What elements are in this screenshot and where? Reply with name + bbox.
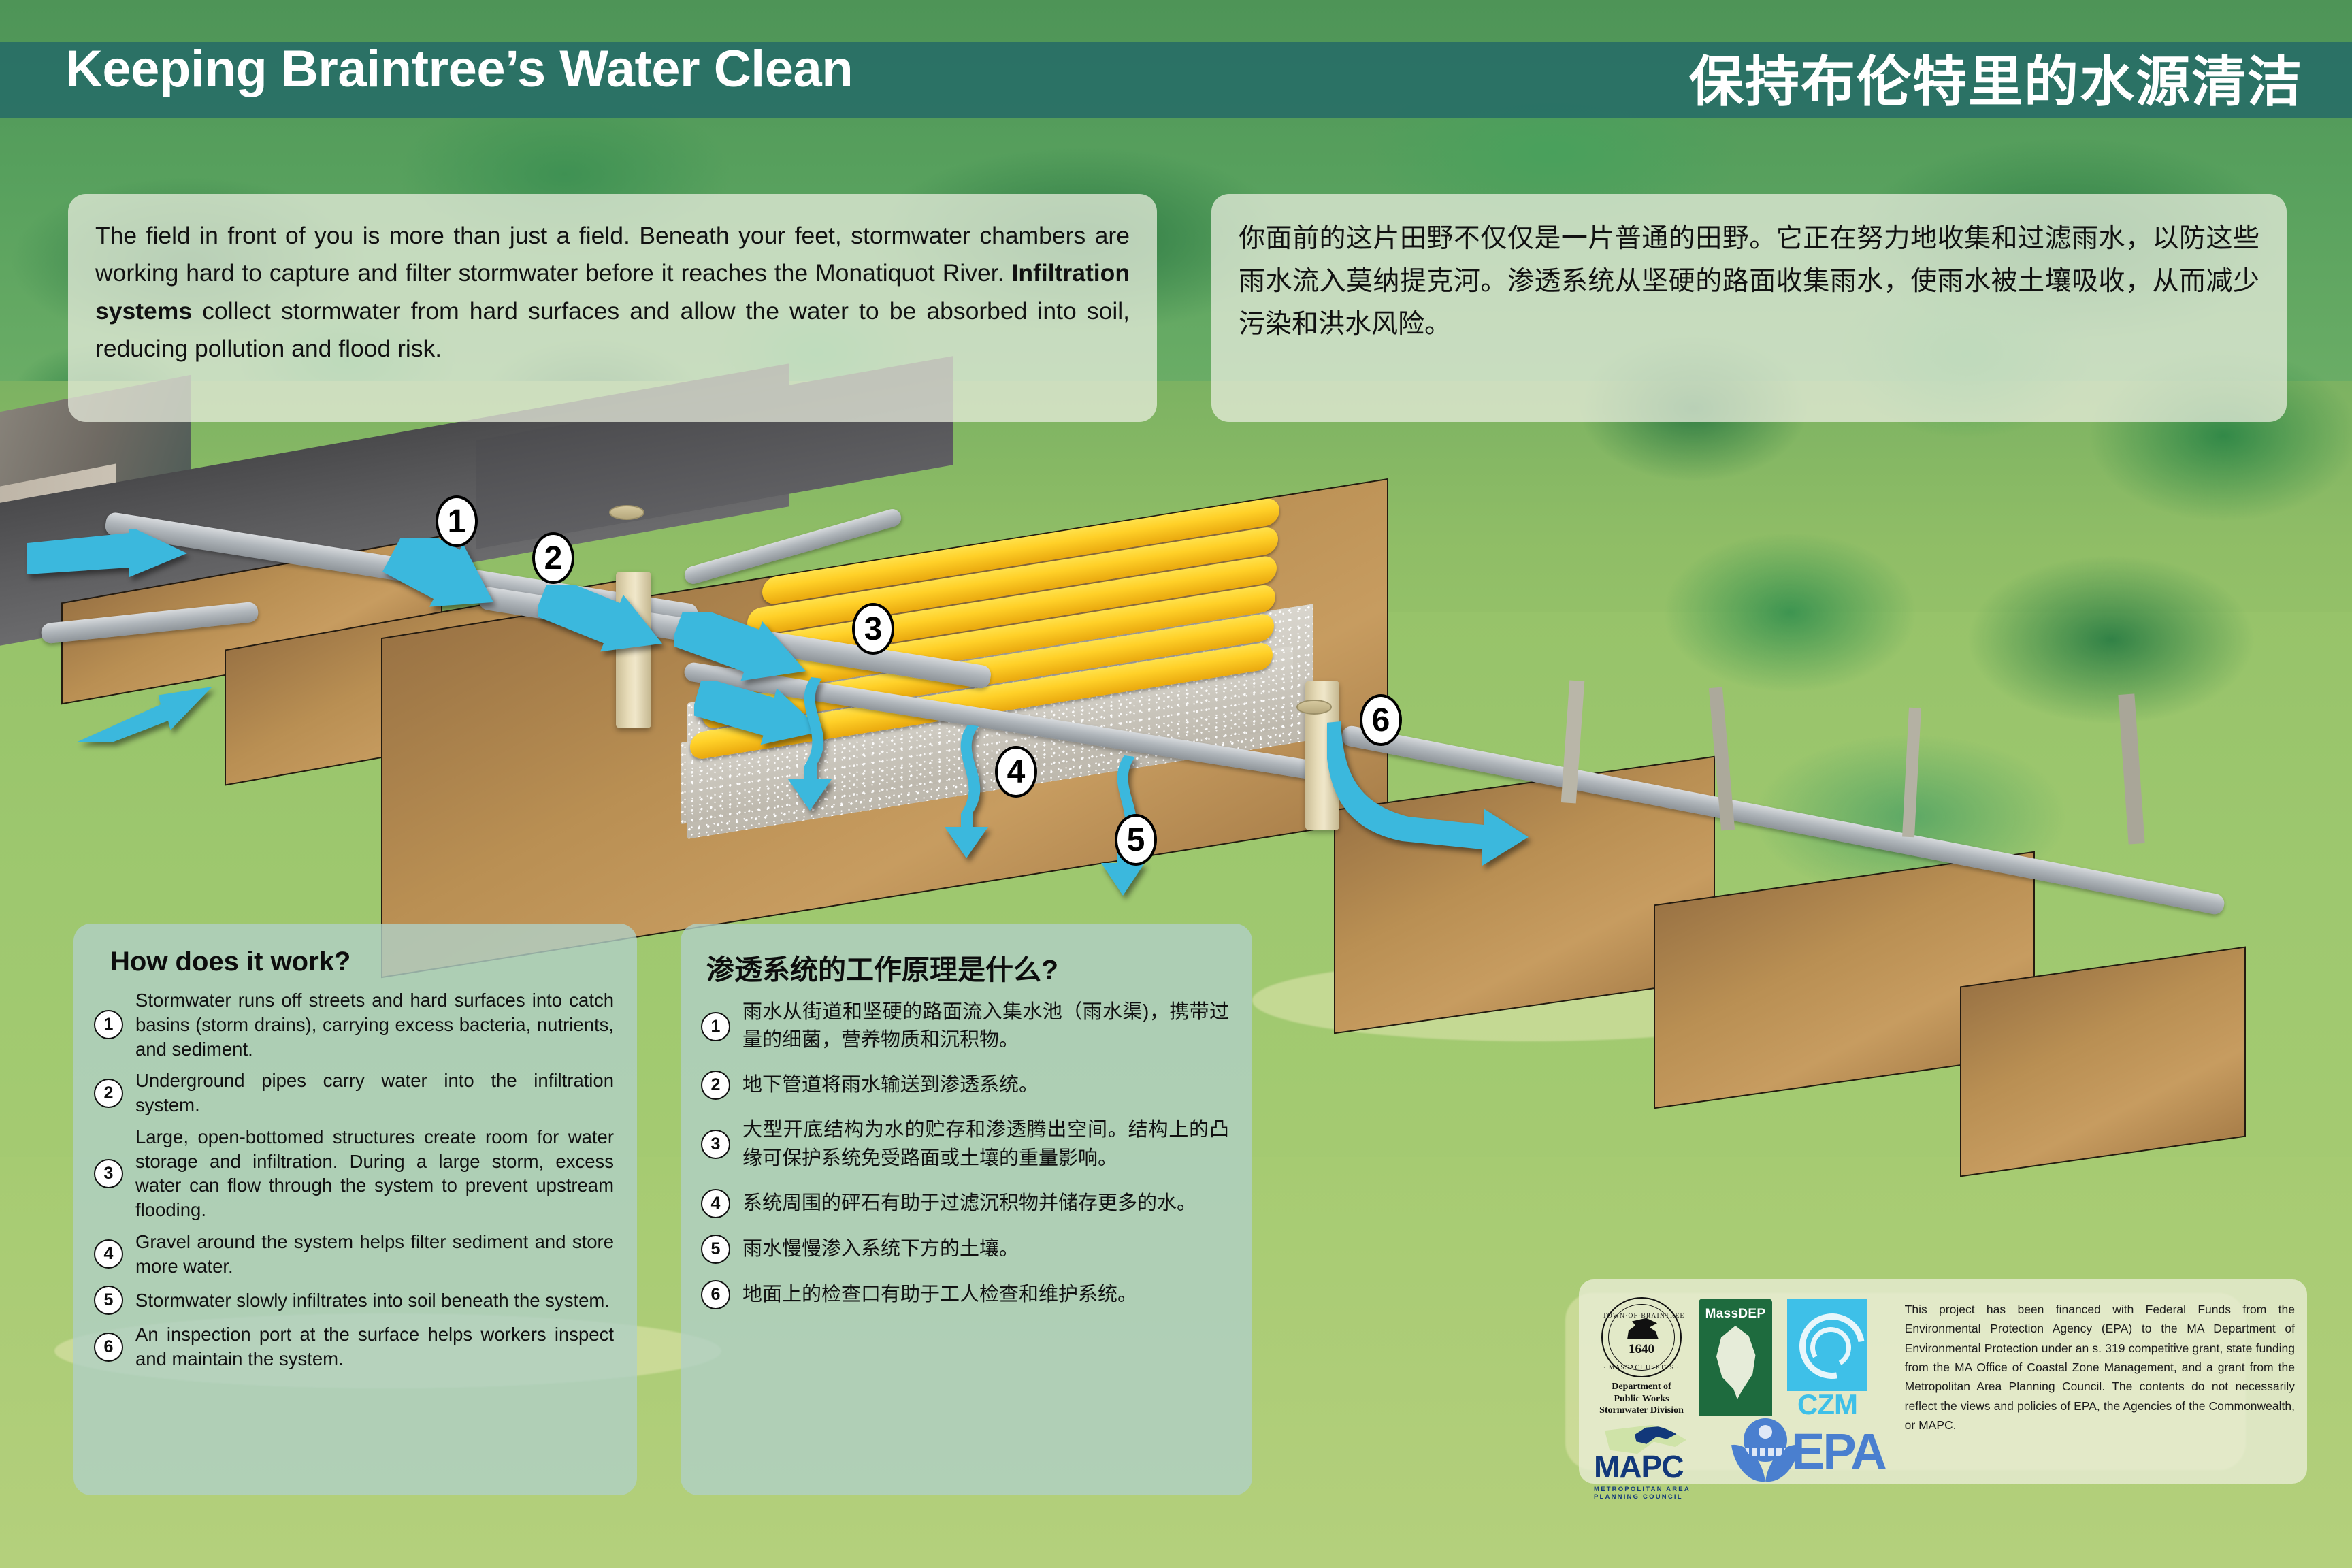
mapc-logo: MAPC METROPOLITAN AREA PLANNING COUNCIL [1594,1424,1730,1501]
step-number-badge: 5 [94,1286,123,1315]
seal-ring: · TOWN·OF·BRAINTREE · 1640 · MASSACHUSET… [1601,1297,1682,1377]
step-text: 系统周围的砰石有助于过滤沉积物并储存更多的水。 [742,1190,1196,1218]
steps-list-chinese: 1 雨水从街道和坚硬的路面流入集水池（雨水渠)，携带过量的细菌，营养物质和沉积物… [701,998,1229,1309]
list-item: 5 雨水慢慢渗入系统下方的土壤。 [701,1235,1229,1264]
step-number-badge: 1 [701,1012,730,1041]
intro-text-chinese: 你面前的这片田野不仅仅是一片普通的田野。它正在努力地收集和过滤雨水，以防这些雨水… [1239,217,2259,346]
diagram-callout-5[interactable]: 5 [1115,814,1157,866]
list-item: 2 地下管道将雨水输送到渗透系统。 [701,1071,1229,1100]
funding-logos-panel: · TOWN·OF·BRAINTREE · 1640 · MASSACHUSET… [1579,1279,2307,1484]
diagram-callout-4[interactable]: 4 [995,746,1037,798]
czm-label: CZM [1786,1388,1869,1421]
list-item: 6 An inspection port at the surface help… [94,1322,614,1371]
diagram-callout-2[interactable]: 2 [532,532,574,584]
czm-logo: CZM [1786,1298,1869,1421]
intro-panel-english: The field in front of you is more than j… [68,194,1157,422]
massdep-label: MassDEP [1705,1307,1766,1322]
flow-arrow-infiltrate-1 [783,677,837,813]
seal-caption-line2: Stormwater Division [1598,1405,1685,1417]
step-number-badge: 4 [701,1189,730,1218]
seal-year: 1640 [1603,1342,1680,1357]
braintree-town-seal: · TOWN·OF·BRAINTREE · 1640 · MASSACHUSET… [1598,1297,1685,1417]
mapc-label: MAPC [1594,1448,1730,1485]
seal-ring-top-text: · TOWN·OF·BRAINTREE · [1603,1306,1680,1326]
step-number-badge: 5 [701,1235,730,1264]
flow-arrow-infiltrate-2 [939,725,994,861]
funding-disclaimer-text: This project has been financed with Fede… [1905,1289,2295,1435]
epa-emblem-icon [1734,1418,1797,1484]
step-text: Stormwater runs off streets and hard sur… [135,988,614,1061]
page-title-english: Keeping Braintree’s Water Clean [65,39,853,99]
flow-arrow-runoff-1 [27,529,191,598]
step-text: Underground pipes carry water into the i… [135,1068,614,1117]
step-number-badge: 1 [94,1010,123,1039]
wave-icon [1787,1298,1867,1391]
list-item: 1 雨水从街道和坚硬的路面流入集水池（雨水渠)，携带过量的细菌，营养物质和沉积物… [701,998,1229,1054]
how-it-works-panel-chinese: 渗透系统的工作原理是什么? 1 雨水从街道和坚硬的路面流入集水池（雨水渠)，携带… [681,924,1252,1495]
step-number-badge: 4 [94,1239,123,1269]
soil-trench-right-3 [1960,946,2246,1177]
how-it-works-heading-chinese: 渗透系统的工作原理是什么? [706,947,1229,987]
massdep-logo: MassDEP [1699,1298,1772,1416]
step-number-badge: 3 [94,1159,123,1188]
intro-text-en-before: The field in front of you is more than j… [95,222,1130,287]
step-text: 地下管道将雨水输送到渗透系统。 [742,1071,1039,1099]
diagram-callout-3[interactable]: 3 [852,603,894,655]
flow-arrow-runoff-2 [65,674,221,742]
step-number-badge: 2 [94,1079,123,1108]
step-text: 地面上的检查口有助于工人检查和维护系统。 [742,1281,1137,1309]
leaf-icon [1712,1326,1759,1399]
step-text: Stormwater slowly infiltrates into soil … [135,1288,610,1313]
list-item: 1 Stormwater runs off streets and hard s… [94,988,614,1061]
intro-text-en-after: collect stormwater from hard surfaces an… [95,297,1130,362]
diagram-callout-6[interactable]: 6 [1360,694,1402,746]
list-item: 3 大型开底结构为水的贮存和渗透腾出空间。结构上的凸缘可保护系统免受路面或土壤的… [701,1116,1229,1172]
epa-label: EPA [1791,1422,1885,1480]
how-it-works-heading-english: How does it work? [110,947,614,977]
logo-grid: · TOWN·OF·BRAINTREE · 1640 · MASSACHUSET… [1591,1289,1905,1474]
step-number-badge: 6 [94,1333,123,1362]
step-number-badge: 2 [701,1071,730,1100]
anvil-icon [1626,1316,1660,1339]
list-item: 5 Stormwater slowly infiltrates into soi… [94,1286,614,1315]
steps-list-english: 1 Stormwater runs off streets and hard s… [94,988,614,1371]
flow-arrow-outlet [1327,721,1531,878]
intro-panel-chinese: 你面前的这片田野不仅仅是一片普通的田野。它正在努力地收集和过滤雨水，以防这些雨水… [1211,194,2287,422]
step-text: 雨水从街道和坚硬的路面流入集水池（雨水渠)，携带过量的细菌，营养物质和沉积物。 [742,998,1229,1054]
step-text: Gravel around the system helps filter se… [135,1230,614,1279]
list-item: 4 系统周围的砰石有助于过滤沉积物并储存更多的水。 [701,1189,1229,1218]
step-text: 大型开底结构为水的贮存和渗透腾出空间。结构上的凸缘可保护系统免受路面或土壤的重量… [742,1116,1229,1172]
list-item: 3 Large, open-bottomed structures create… [94,1125,614,1222]
list-item: 2 Underground pipes carry water into the… [94,1068,614,1117]
page-title-chinese: 保持布伦特里的水源清洁 [1689,38,2303,117]
step-text: An inspection port at the surface helps … [135,1322,614,1371]
flow-arrow-pipe-2 [538,585,674,667]
inspection-port-cap [1296,700,1332,715]
list-item: 6 地面上的检查口有助于工人检查和维护系统。 [701,1280,1229,1309]
catch-basin-cap [609,505,644,520]
seal-caption: Department of Public Works Stormwater Di… [1598,1381,1685,1417]
seal-caption-line1: Department of Public Works [1598,1381,1685,1405]
intro-text-english: The field in front of you is more than j… [95,217,1130,368]
step-number-badge: 3 [701,1130,730,1159]
step-text: Large, open-bottomed structures create r… [135,1125,614,1222]
how-it-works-panel-english: How does it work? 1 Stormwater runs off … [73,924,637,1495]
list-item: 4 Gravel around the system helps filter … [94,1230,614,1279]
flow-arrow-into-basin [381,538,504,626]
mapc-sublabel: METROPOLITAN AREA PLANNING COUNCIL [1594,1486,1730,1501]
diagram-callout-1[interactable]: 1 [436,495,478,547]
step-number-badge: 6 [701,1280,730,1309]
epa-logo: EPA [1734,1418,1885,1484]
seal-ring-bottom-text: · MASSACHUSETTS · [1603,1365,1680,1371]
step-text: 雨水慢慢渗入系统下方的土壤。 [742,1235,1019,1263]
